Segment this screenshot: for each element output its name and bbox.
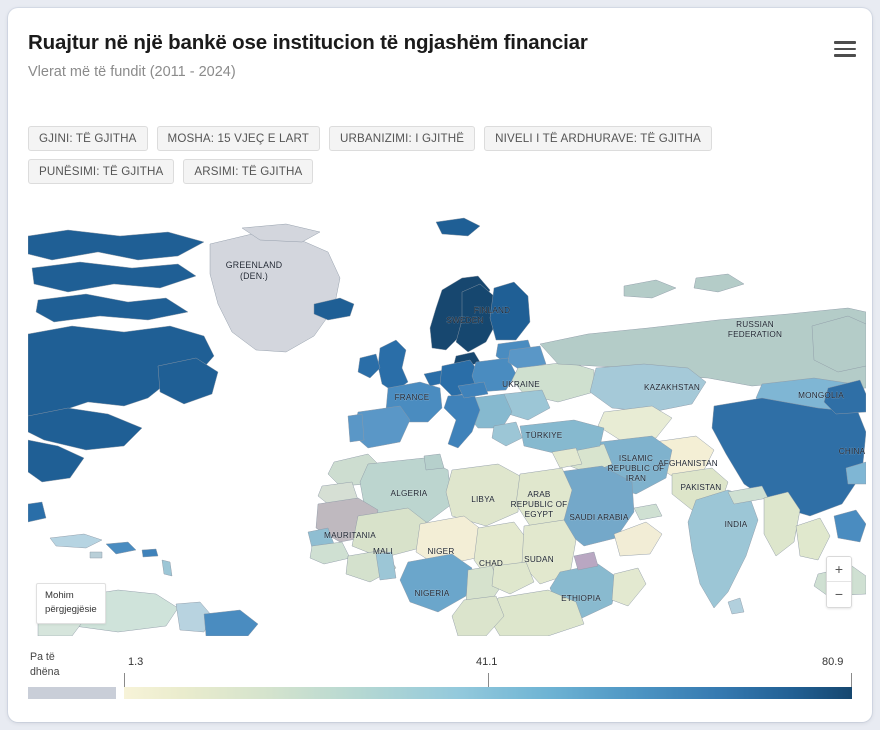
menu-bar-3 <box>834 54 856 57</box>
page-title: Ruajtur në një bankë ose institucion të … <box>28 30 848 56</box>
legend-scale: 1.3 41.1 80.9 <box>124 648 852 706</box>
card-header: Ruajtur në një bankë ose institucion të … <box>8 8 872 114</box>
label-china: CHINA <box>839 447 866 456</box>
label-mali: MALI <box>373 547 393 556</box>
label-sudan: SUDAN <box>524 555 554 564</box>
menu-bar-2 <box>834 48 856 51</box>
label-nigeria: NIGERIA <box>414 589 449 598</box>
label-niger: NIGER <box>428 547 455 556</box>
label-pakistan: PAKISTAN <box>681 483 722 492</box>
legend-value-min: 1.3 <box>128 656 143 668</box>
country-jamaica <box>90 552 102 558</box>
label-france: FRANCE <box>395 393 430 402</box>
legend-gradient-bar <box>124 687 852 699</box>
legend-tick-mid <box>488 673 489 687</box>
label-libya: LIBYA <box>471 495 495 504</box>
filter-chip-gender[interactable]: GJINI: TË GJITHA <box>28 126 148 151</box>
label-mauritania: MAURITANIA <box>324 531 376 540</box>
label-saudi-arabia: SAUDI ARABIA <box>569 513 629 522</box>
world-map-svg[interactable]: GREENLAND (DEN.) FINLAND SWEDEN RUSSIAN … <box>28 216 866 636</box>
label-russia: RUSSIAN <box>736 320 774 329</box>
filter-chip-urbanization[interactable]: URBANIZIMI: I GJITHË <box>329 126 475 151</box>
filter-chip-age[interactable]: MOSHA: 15 VJEÇ E LART <box>157 126 320 151</box>
label-egypt: ARAB <box>527 490 550 499</box>
disclaimer-line-2: përgjegjësie <box>45 603 97 617</box>
page-root: Ruajtur në një bankë ose institucion të … <box>0 0 880 730</box>
map-zoom-controls[interactable]: + − <box>826 556 852 608</box>
legend-value-max: 80.9 <box>822 656 843 668</box>
no-data-label-line2: dhëna <box>30 665 102 680</box>
disclaimer-line-1: Mohim <box>45 589 97 603</box>
filter-chip-list: GJINI: TË GJITHA MOSHA: 15 VJEÇ E LART U… <box>28 126 852 184</box>
zoom-in-button[interactable]: + <box>827 557 851 582</box>
zoom-out-button[interactable]: − <box>827 582 851 607</box>
label-greenland-line2: (DEN.) <box>240 271 268 281</box>
label-iran-line3: IRAN <box>626 474 646 483</box>
label-russia-line2: FEDERATION <box>728 330 782 339</box>
label-india: INDIA <box>725 520 748 529</box>
label-finland: FINLAND <box>474 306 510 315</box>
label-egypt-line2: REPUBLIC OF <box>511 500 568 509</box>
country-pr <box>142 549 158 557</box>
legend-value-mid: 41.1 <box>476 656 497 668</box>
filter-chip-education[interactable]: ARSIMI: TË GJITHA <box>183 159 313 184</box>
filter-chip-income[interactable]: NIVELI I TË ARDHURAVE: TË GJITHA <box>484 126 712 151</box>
no-data-label-line1: Pa të <box>30 650 102 665</box>
label-chad: CHAD <box>479 559 503 568</box>
page-subtitle: Vlerat më të fundit (2011 - 2024) <box>28 63 848 81</box>
legend-tick-min <box>124 673 125 687</box>
filter-chip-employment[interactable]: PUNËSIMI: TË GJITHA <box>28 159 174 184</box>
country-portugal <box>348 414 364 442</box>
label-sweden: SWEDEN <box>446 316 483 325</box>
no-data-swatch <box>28 687 116 699</box>
label-mongolia: MONGOLIA <box>798 391 844 400</box>
label-iran: ISLAMIC <box>619 454 653 463</box>
menu-bar-1 <box>834 41 856 44</box>
label-afghanistan: AFGHANISTAN <box>658 459 718 468</box>
hamburger-menu-icon[interactable] <box>832 36 858 62</box>
label-algeria: ALGERIA <box>391 489 428 498</box>
label-kazakhstan: KAZAKHSTAN <box>644 383 700 392</box>
choropleth-map[interactable]: GREENLAND (DEN.) FINLAND SWEDEN RUSSIAN … <box>28 216 866 636</box>
map-disclaimer-button[interactable]: Mohim përgjegjësie <box>36 583 106 624</box>
no-data-label: Pa të dhëna <box>30 650 102 680</box>
label-ukraine: UKRAINE <box>502 380 540 389</box>
label-ethiopia: ETHIOPIA <box>561 594 601 603</box>
label-iran-line2: REPUBLIC OF <box>608 464 665 473</box>
dashboard-card: Ruajtur në një bankë ose institucion të … <box>8 8 872 722</box>
label-greenland: GREENLAND <box>226 260 283 270</box>
label-turkiye: TÜRKIYE <box>526 430 563 440</box>
map-legend: Pa të dhëna 1.3 41.1 80.9 <box>28 648 852 706</box>
legend-tick-max <box>851 673 852 687</box>
label-egypt-line3: EGYPT <box>525 510 554 519</box>
